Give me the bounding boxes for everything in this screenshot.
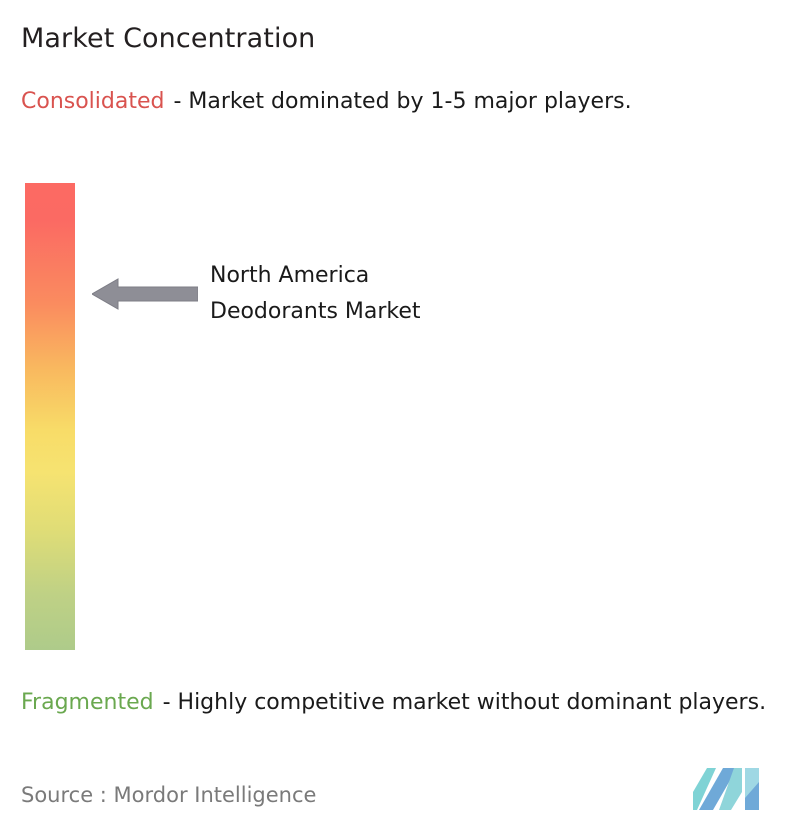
callout-label-line1: North America bbox=[210, 258, 421, 294]
left-arrow-icon bbox=[92, 276, 198, 312]
legend-label-fragmented: Fragmented bbox=[21, 690, 154, 715]
legend-description-consolidated: - Market dominated by 1-5 major players. bbox=[173, 89, 631, 114]
callout-label: North America Deodorants Market bbox=[210, 258, 421, 330]
legend-consolidated: Consolidated- Market dominated by 1-5 ma… bbox=[21, 86, 769, 117]
concentration-gradient-bar bbox=[25, 183, 75, 650]
source-text: Source : Mordor Intelligence bbox=[21, 781, 316, 809]
market-concentration-chart: Market Concentration Consolidated- Marke… bbox=[0, 0, 796, 834]
legend-label-consolidated: Consolidated bbox=[21, 89, 164, 114]
page-title: Market Concentration bbox=[21, 22, 315, 56]
legend-fragmented: Fragmented- Highly competitive market wi… bbox=[21, 687, 791, 718]
legend-description-fragmented: - Highly competitive market without domi… bbox=[163, 690, 766, 715]
market-callout: North America Deodorants Market bbox=[92, 258, 652, 328]
mordor-intelligence-logo bbox=[693, 768, 765, 810]
callout-label-line2: Deodorants Market bbox=[210, 294, 421, 330]
